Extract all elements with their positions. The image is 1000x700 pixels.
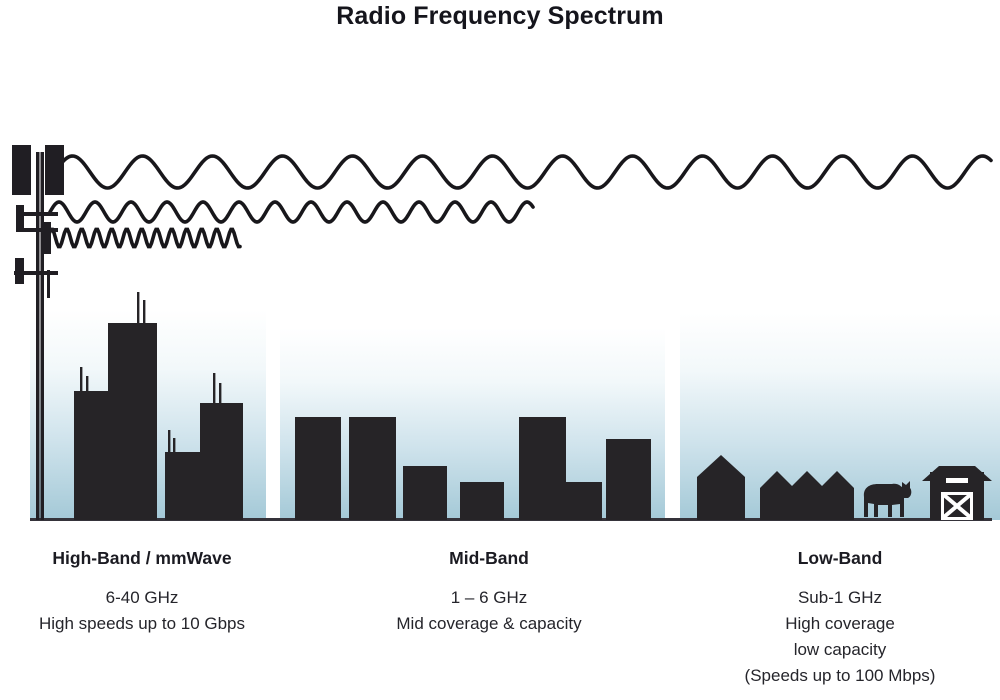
building-spire — [143, 300, 145, 325]
building-mid-band — [566, 482, 602, 520]
building-spire — [86, 376, 88, 393]
building-mid-band — [519, 417, 566, 520]
building-mid-band — [606, 439, 651, 520]
tower-antenna-panel-low-left — [15, 258, 24, 284]
building-spire — [219, 383, 221, 405]
band-description: Sub-1 GHz High coverage low capacity (Sp… — [340, 585, 1000, 689]
barn-loft-window — [946, 478, 968, 483]
band-label-low-band: Low-Band Sub-1 GHz High coverage low cap… — [340, 548, 1000, 689]
building-spire — [168, 430, 170, 454]
building-high-band — [108, 323, 157, 520]
tower-mast-left — [36, 152, 40, 520]
band-line: High coverage — [340, 611, 1000, 637]
band-title: Low-Band — [340, 548, 1000, 569]
building-mid-band — [349, 417, 396, 520]
page-title: Radio Frequency Spectrum — [0, 2, 1000, 31]
building-high-band — [165, 452, 203, 520]
building-spire — [173, 438, 175, 454]
band-line: low capacity — [340, 637, 1000, 663]
building-high-band — [200, 403, 243, 520]
high-frequency-wave — [48, 229, 240, 246]
band-line: (Speeds up to 100 Mbps) — [340, 663, 1000, 689]
tower-mast-stub — [47, 270, 50, 298]
building-mid-band — [460, 482, 504, 520]
building-spire — [137, 292, 139, 325]
tower-antenna-panel-mid-left — [16, 205, 24, 231]
mid-frequency-wave — [50, 202, 533, 222]
tower-mast-right — [41, 152, 45, 520]
tower-antenna-panel-top-left — [12, 145, 31, 195]
building-mid-band — [403, 466, 447, 520]
building-spire — [213, 373, 215, 405]
low-frequency-wave — [55, 156, 991, 188]
building-mid-band — [295, 417, 341, 520]
band-line: Sub-1 GHz — [340, 585, 1000, 611]
tower-antenna-panel-top-right — [45, 145, 64, 195]
building-spire — [80, 367, 82, 393]
tower-antenna-panel-mid-right — [43, 222, 51, 254]
